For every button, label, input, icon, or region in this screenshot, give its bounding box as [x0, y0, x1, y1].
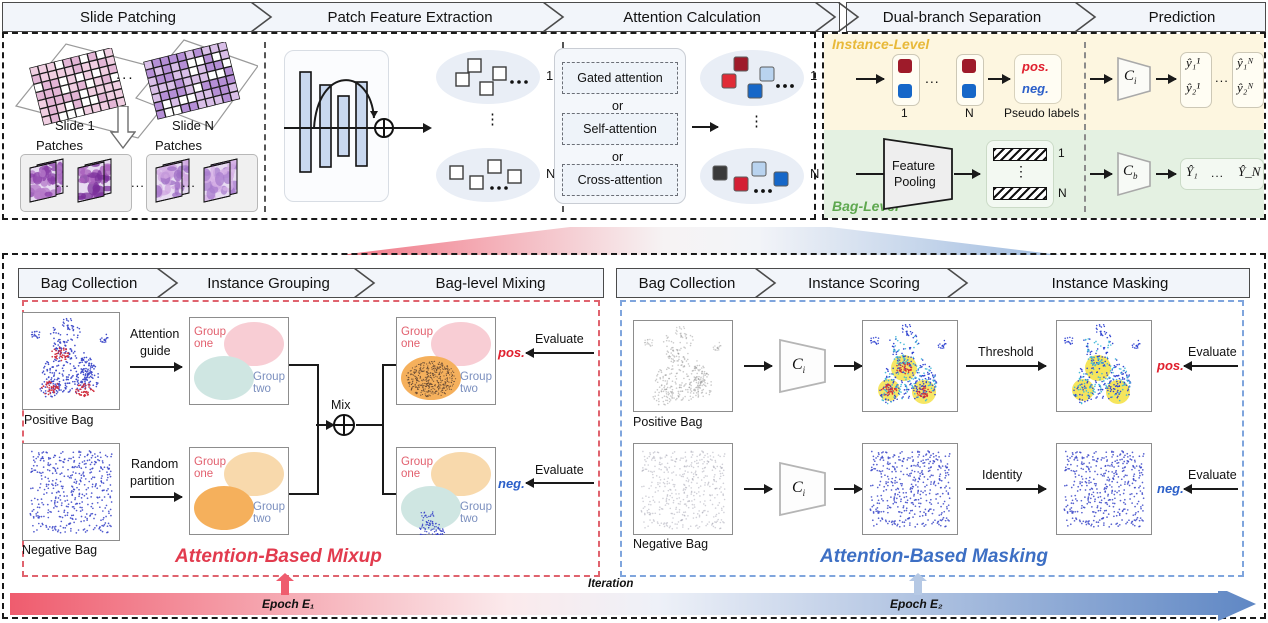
instance-ellipsis: ... [925, 70, 940, 86]
chevron-icon [838, 2, 864, 37]
feature-pooling-label-line2: Pooling [894, 175, 936, 189]
mixed-group-two-label: Group two [460, 371, 492, 395]
epoch-2-up-arrow-icon [908, 573, 928, 595]
group-two-l1: Group [253, 501, 285, 513]
bag-1-label: 1 [546, 68, 553, 83]
stage-bag-collection-mixup[interactable]: Bag Collection [19, 269, 159, 297]
classifier-letter: C [792, 479, 803, 496]
stage-instance-masking[interactable]: Instance Masking [971, 269, 1249, 297]
classifier-letter: C [1123, 163, 1133, 179]
chevron-icon [159, 269, 181, 297]
mixed-group-one-label: Group one [401, 326, 433, 350]
negative-bag-label-mixup: Negative Bag [22, 543, 97, 557]
arrow-to-bag-outputs [1156, 173, 1176, 175]
instance-chip-neg [962, 84, 976, 98]
instance-n-label: N [965, 106, 974, 120]
masking-neg-label: neg. [1157, 481, 1184, 496]
mixed-neg-group-one-label: Group one [401, 456, 433, 480]
instance-classifier-label: Ci [1124, 68, 1137, 86]
or-label-1: or [612, 99, 623, 113]
arrow-to-instance-outputs [1156, 78, 1176, 80]
group-two-l1: Group [460, 501, 492, 513]
resnet-icon [284, 50, 444, 202]
classifier-subscript: i [1134, 76, 1137, 86]
attention-guide-line2: guide [140, 344, 171, 358]
evaluate-label-neg-masking: Evaluate [1188, 468, 1237, 482]
arrow-to-pseudo-labels [988, 78, 1010, 80]
arrow-threshold [966, 365, 1046, 367]
patches-left-label: Patches [36, 138, 83, 153]
patch-ellipsis-mid: ... [131, 175, 145, 190]
stage-label: Bag Collection [633, 275, 742, 292]
wire-neg-up [317, 424, 319, 495]
feature-pooling-label-line1: Feature [892, 159, 935, 173]
stage-label: Instance Scoring [802, 275, 926, 292]
stage-label: Dual-branch Separation [877, 9, 1047, 26]
bag-vectors-vdots: ⋮ [1014, 163, 1028, 180]
bag-vector-n [993, 187, 1047, 200]
instance-output-1-top: ŷ₁¹ [1186, 55, 1200, 71]
wire-neg-out [289, 493, 319, 495]
pseudo-label-neg: neg. [1022, 81, 1049, 96]
wire-mix-up [382, 364, 384, 426]
wire-mix-down [382, 424, 384, 494]
arrow-pos-to-classifier [744, 365, 772, 367]
bag-vdots: ⋮ [485, 110, 500, 128]
iteration-label: Iteration [588, 578, 633, 590]
group-one-l2: one [194, 468, 226, 480]
option-self-attention[interactable]: Self-attention [562, 113, 678, 145]
bag-output-n: Ŷ_N [1238, 164, 1260, 180]
attended-bag-1-instances [700, 50, 804, 106]
classifier-subscript: i [803, 365, 806, 375]
slide-n-label: Slide N [172, 118, 214, 133]
epoch-2-label: Epoch E₂ [890, 597, 943, 611]
negative-bag-label-masking: Negative Bag [633, 537, 708, 551]
stage-label: Instance Masking [1046, 275, 1175, 292]
classifier-letter: C [792, 356, 803, 373]
stage-bag-level-mixing[interactable]: Bag-level Mixing [378, 269, 603, 297]
stage-patch-feature-extraction[interactable]: Patch Feature Extraction [275, 3, 545, 31]
group-one-label-pos: Group one [194, 326, 226, 350]
group-two-label-pos: Group two [253, 371, 285, 395]
instance-output-n-top: ŷ₁ᴺ [1237, 55, 1253, 71]
group-one-l1: Group [401, 456, 433, 468]
slide-n-patch-grid [136, 42, 256, 122]
positive-bag-scatter-mixup [22, 312, 120, 410]
identity-label: Identity [982, 468, 1022, 482]
chevron-icon [949, 269, 971, 297]
positive-bag-label-mixup: Positive Bag [24, 413, 93, 427]
group-one-l1: Group [194, 456, 226, 468]
stage-prediction[interactable]: Prediction [1099, 3, 1265, 31]
patch-ellipsis: ... [56, 175, 70, 190]
bag-vector-1 [993, 148, 1047, 161]
epoch-1-up-arrow-icon [275, 573, 295, 595]
epoch-1-label: Epoch E₁ [262, 597, 314, 611]
wire-pos-down [317, 364, 319, 424]
arrow-identity [966, 488, 1046, 490]
stage-instance-scoring[interactable]: Instance Scoring [779, 269, 949, 297]
arrow-random-partition [130, 496, 182, 498]
masking-classifier-neg-label: Ci [792, 479, 805, 498]
top-stage-bar-left: Slide Patching Patch Feature Extraction … [2, 2, 840, 32]
random-partition-line2: partition [130, 474, 174, 488]
instance-chip-pos [898, 59, 912, 73]
stage-bag-collection-masking[interactable]: Bag Collection [617, 269, 757, 297]
arrow-classifier-to-scored-pos [834, 365, 862, 367]
arrow-attention-guide [130, 366, 182, 368]
instance-chip-pos [962, 59, 976, 73]
attended-bag-1-label: 1 [810, 68, 817, 83]
slide-ellipsis: ... [116, 66, 135, 83]
instance-level-label: Instance-Level [832, 36, 929, 52]
negative-bag-scatter-mixup [22, 443, 120, 541]
classifier-letter: C [1124, 68, 1134, 84]
section-divider-3 [1084, 42, 1086, 212]
pseudo-labels-caption: Pseudo labels [1004, 106, 1079, 120]
option-gated-attention[interactable]: Gated attention [562, 62, 678, 94]
arrow-evaluate-pos-mixup [526, 352, 594, 354]
mixup-stage-bar: Bag Collection Instance Grouping Bag-lev… [18, 268, 604, 298]
group-two-l1: Group [253, 371, 285, 383]
masked-positive-scatter [1056, 320, 1152, 412]
masking-caption: Attention-Based Masking [820, 546, 1048, 568]
section-divider-1 [264, 42, 266, 212]
stage-label: Bag Collection [35, 275, 144, 292]
patches-right-label: Patches [155, 138, 202, 153]
arrow-classifier-to-scored-neg [834, 488, 862, 490]
chevron-icon [1077, 3, 1099, 31]
chevron-icon [253, 3, 275, 31]
chevron-icon [817, 3, 839, 31]
stage-label: Prediction [1143, 9, 1222, 26]
bag-n-instances [436, 148, 540, 202]
feature-pooling-trapezoid [882, 137, 956, 211]
mix-label: Mix [331, 398, 350, 412]
attention-guide-line1: Attention [130, 327, 179, 341]
wire-mix-out [356, 424, 384, 426]
timeline-arrow [10, 591, 1258, 621]
evaluate-label-pos-mixup: Evaluate [535, 332, 584, 346]
arrow-neg-to-classifier [744, 488, 772, 490]
negative-bag-scatter-masking [633, 443, 733, 535]
arrow-evaluate-neg-mixup [526, 482, 594, 484]
mixup-caption: Attention-Based Mixup [175, 546, 382, 568]
group-one-l2: one [401, 338, 433, 350]
masking-pos-label: pos. [1157, 358, 1184, 373]
chevron-icon [356, 269, 378, 297]
stage-slide-patching[interactable]: Slide Patching [3, 3, 253, 31]
or-label-2: or [612, 150, 623, 164]
attended-bag-n-label: N [810, 166, 819, 181]
option-cross-attention[interactable]: Cross-attention [562, 164, 678, 196]
stage-label: Bag-level Mixing [429, 275, 551, 292]
chevron-icon [545, 3, 567, 31]
threshold-label: Threshold [978, 345, 1034, 359]
masked-negative-scatter [1056, 443, 1152, 535]
attended-bag-vdots: ⋮ [749, 112, 764, 130]
bag-vector-1-label: 1 [1058, 146, 1065, 160]
positive-bag-scatter-masking [633, 320, 733, 412]
group-one-label-neg: Group one [194, 456, 226, 480]
group-two-l2: two [253, 383, 285, 395]
patch-ellipsis-right: ... [182, 175, 196, 190]
group-one-l2: one [401, 468, 433, 480]
pseudo-label-pos: pos. [1022, 59, 1049, 74]
arrow-evaluate-pos-masking [1184, 365, 1238, 367]
instance-output-1-bottom: ŷ₂¹ [1186, 80, 1200, 96]
bag-classifier-label: Cb [1123, 163, 1138, 181]
positive-bag-label-masking: Positive Bag [633, 415, 702, 429]
instance-1-label: 1 [901, 106, 908, 120]
bag-1-instances [436, 50, 540, 104]
group-two-l2: two [460, 513, 492, 525]
mixup-pos-label: pos. [498, 345, 525, 360]
group-two-l1: Group [460, 371, 492, 383]
arrow-to-bag-vectors [954, 173, 980, 175]
stage-label: Slide Patching [74, 9, 182, 26]
classifier-subscript: i [803, 488, 806, 498]
mix-plus-icon [332, 413, 356, 437]
group-two-l2: two [460, 383, 492, 395]
line-to-feature-pooling [856, 173, 884, 175]
group-one-l2: one [194, 338, 226, 350]
option-label: Self-attention [583, 122, 657, 136]
evaluate-label-pos-masking: Evaluate [1188, 345, 1237, 359]
stage-label: Patch Feature Extraction [321, 9, 498, 26]
bag-vector-n-label: N [1058, 186, 1067, 200]
stage-dual-branch-separation[interactable]: Dual-branch Separation [847, 3, 1077, 31]
group-two-l2: two [253, 513, 285, 525]
mixed-neg-group-two-label: Group two [460, 501, 492, 525]
instance-chip-neg [898, 84, 912, 98]
arrow-to-instance-classifier [1090, 78, 1112, 80]
random-partition-line1: Random [131, 457, 178, 471]
evaluate-label-neg-mixup: Evaluate [535, 463, 584, 477]
option-label: Cross-attention [578, 173, 663, 187]
stage-instance-grouping[interactable]: Instance Grouping [181, 269, 356, 297]
top-stage-bar-right: Dual-branch Separation Prediction [846, 2, 1266, 32]
arrow-to-instance-stack [856, 78, 884, 80]
slide-1-label: Slide 1 [55, 118, 95, 133]
option-label: Gated attention [577, 71, 662, 85]
diagram-root: Slide Patching Patch Feature Extraction … [0, 0, 1268, 623]
mixup-neg-label: neg. [498, 476, 525, 491]
stage-label: Attention Calculation [617, 9, 767, 26]
down-arrow-icon [110, 106, 136, 150]
bag-output-1: Ŷ₁ [1186, 164, 1198, 180]
instance-output-ellipsis: ... [1215, 70, 1229, 85]
bag-output-ellipsis: ... [1211, 166, 1224, 180]
group-one-l1: Group [401, 326, 433, 338]
group-one-l1: Group [194, 326, 226, 338]
classifier-subscript: b [1133, 171, 1138, 181]
group-two-label-neg: Group two [253, 501, 285, 525]
arrow-to-bag-classifier [1090, 173, 1112, 175]
masking-stage-bar: Bag Collection Instance Scoring Instance… [616, 268, 1250, 298]
attended-bag-n-instances [700, 148, 804, 204]
chevron-icon [757, 269, 779, 297]
stage-attention-calculation[interactable]: Attention Calculation [567, 3, 817, 31]
arrow-evaluate-neg-masking [1184, 488, 1238, 490]
instance-output-n-bottom: ŷ₂ᴺ [1237, 80, 1253, 96]
wire-pos-out [289, 364, 319, 366]
masking-classifier-pos-label: Ci [792, 356, 805, 375]
arrow-attention-to-bags [692, 126, 718, 128]
scored-positive-scatter [862, 320, 958, 412]
stage-label: Instance Grouping [201, 275, 336, 292]
scored-negative-scatter [862, 443, 958, 535]
